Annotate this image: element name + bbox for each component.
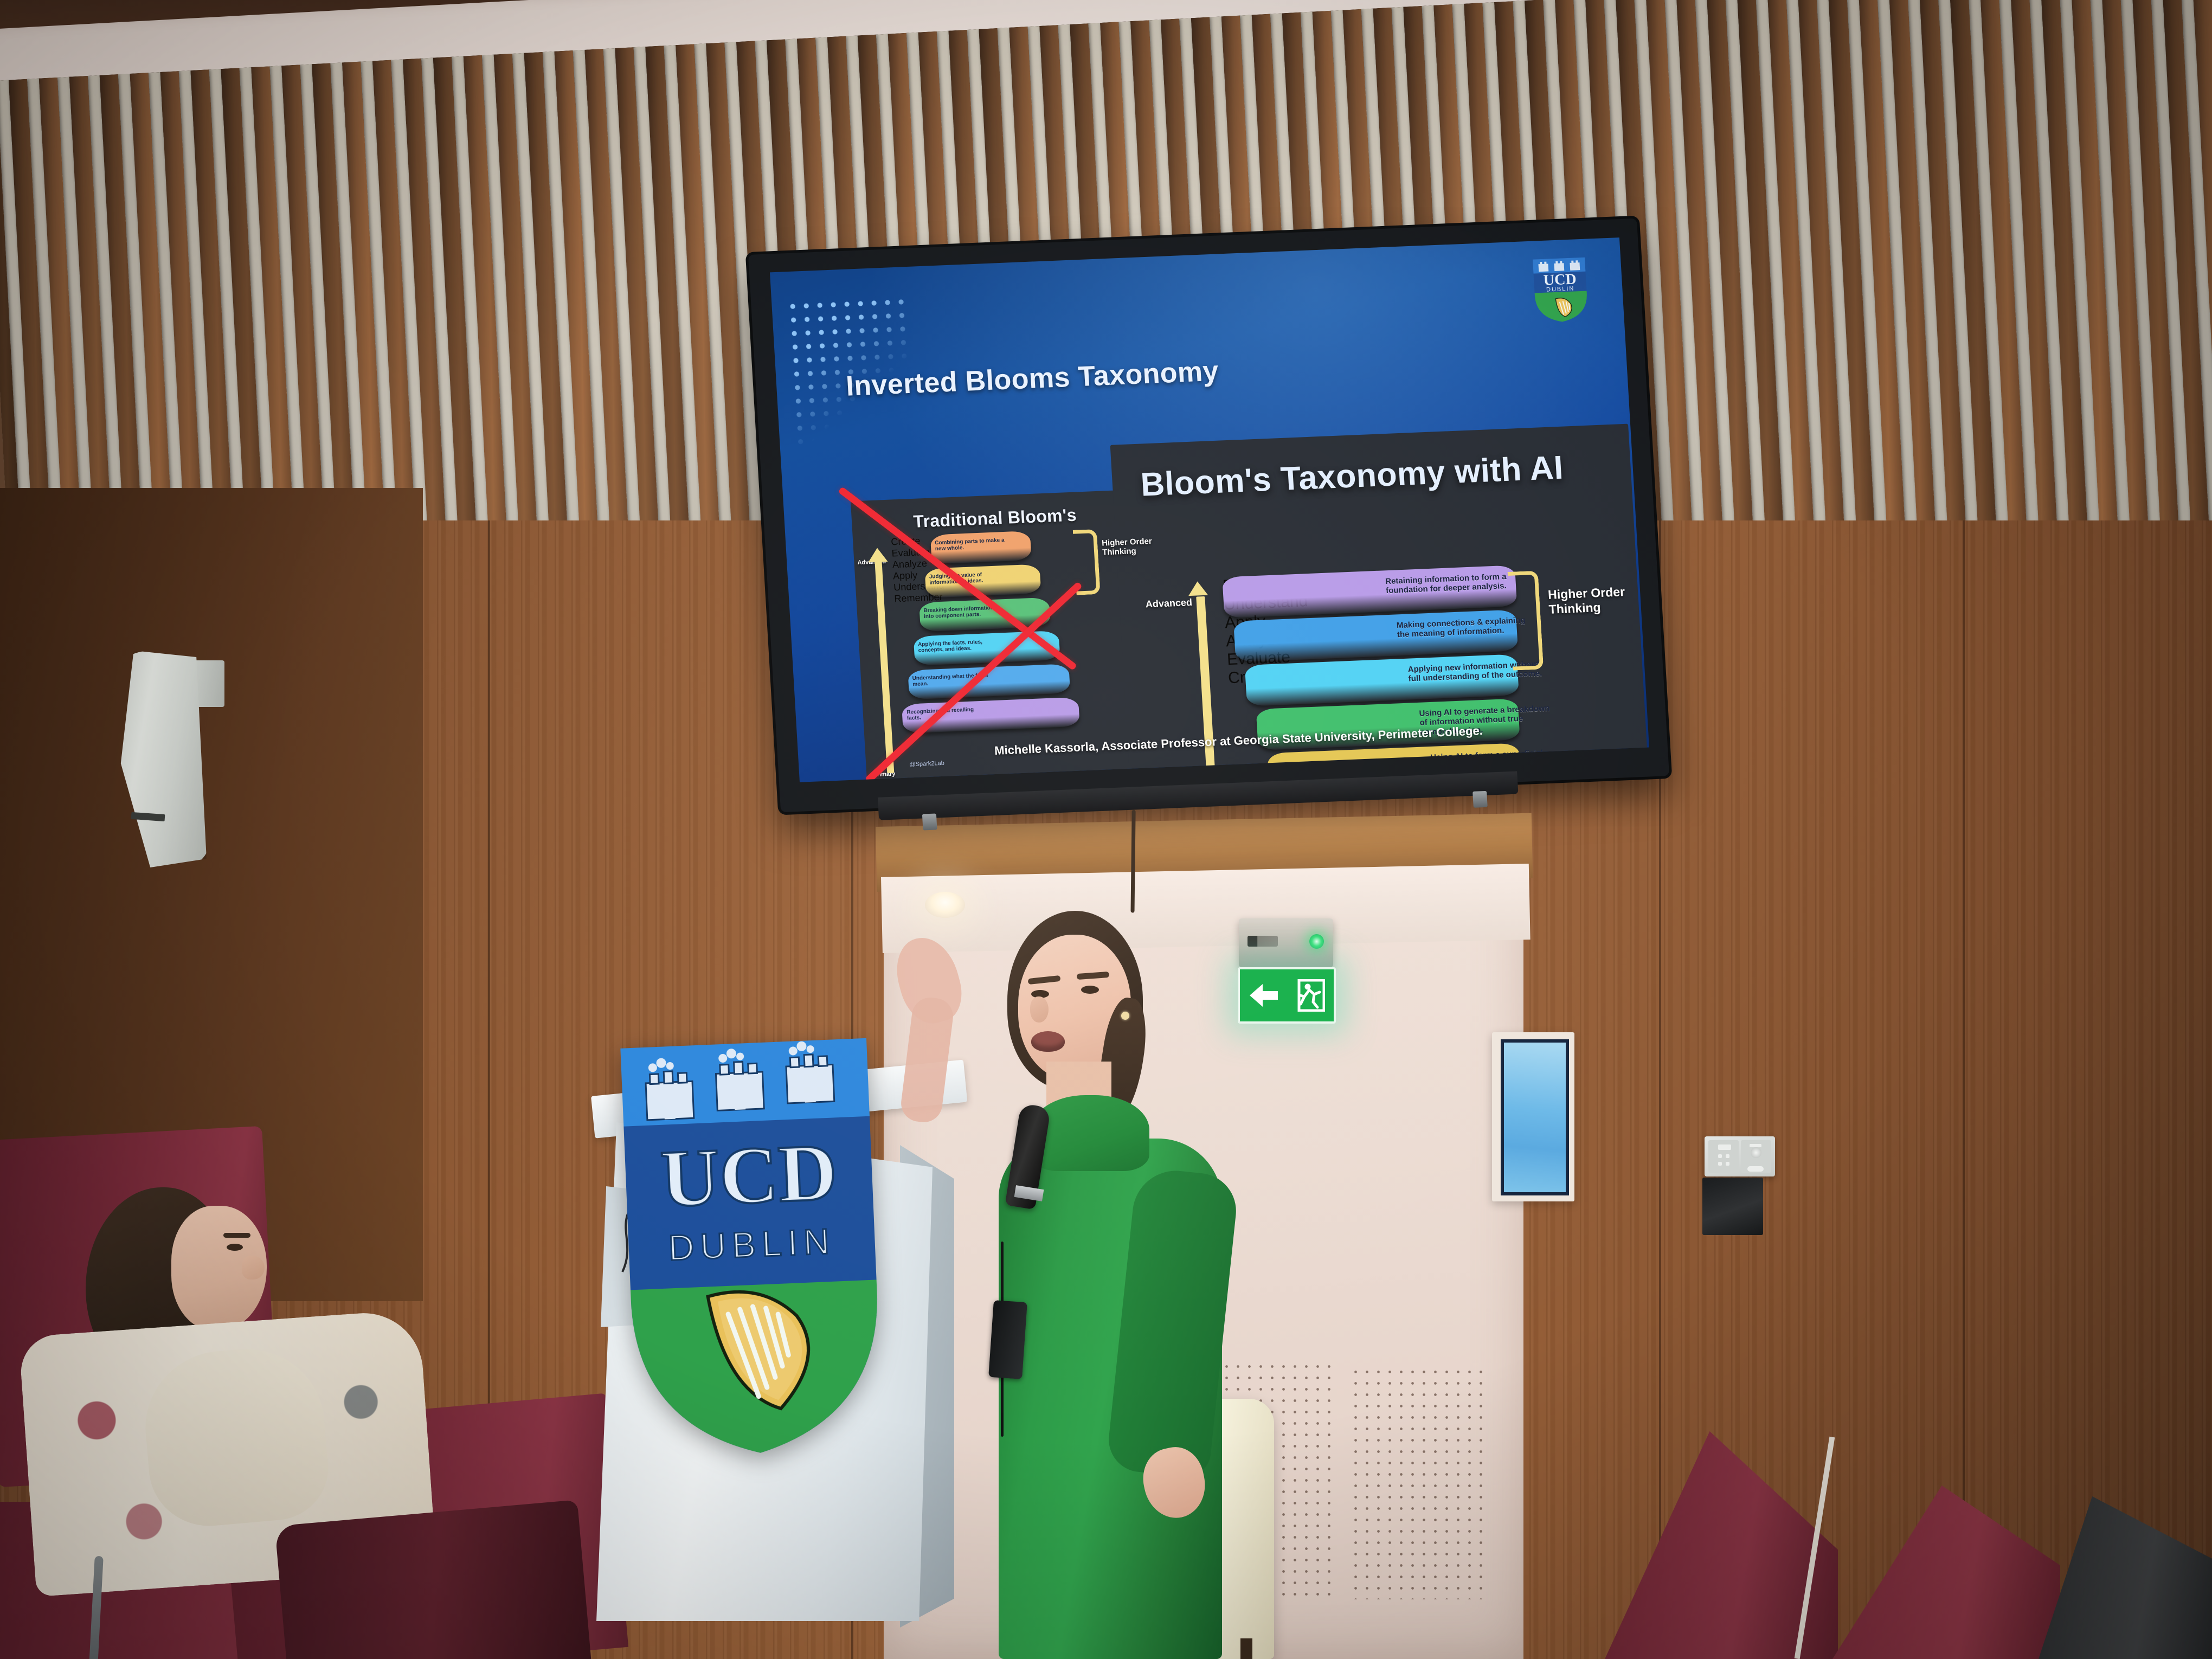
display-mount-foot <box>1472 791 1488 808</box>
speaker-enclosure <box>117 651 209 867</box>
person-nose <box>242 1256 265 1279</box>
ai-hot-bracket <box>1508 571 1544 671</box>
wall-panel-seam <box>1963 520 1965 1659</box>
exit-sign-housing <box>1239 918 1333 967</box>
seated-audience-member <box>65 1187 510 1659</box>
slide-content: Traditional Bloom's Advanced Primary Cre… <box>833 401 1614 723</box>
presenter-mouth <box>1031 1031 1065 1052</box>
ai-hot-label: Higher Order Thinking <box>1547 584 1628 616</box>
slide-title: Inverted Blooms Taxonomy <box>845 350 1335 403</box>
exit-running-person-icon <box>1296 979 1325 1012</box>
exit-sign-test-switch[interactable] <box>1248 936 1278 947</box>
wall-cable-tray <box>1702 1178 1763 1235</box>
crest-text-ucd: UCD <box>659 1127 839 1224</box>
ucd-crest-icon: UCD DUBLIN <box>616 1034 888 1462</box>
crest-text-dublin: DUBLIN <box>667 1221 836 1268</box>
acoustic-perforation-patch <box>1350 1366 1486 1599</box>
person-eye <box>227 1244 243 1251</box>
traditional-hot-label: Higher Order Thinking <box>1102 536 1162 557</box>
keypad-module[interactable] <box>1708 1140 1739 1173</box>
ucd-logo-subtext: DUBLIN <box>1546 286 1575 293</box>
ucd-logo-icon: UCD DUBLIN <box>1531 255 1591 325</box>
traditional-axis-arrowhead <box>867 548 888 562</box>
bose-wall-speaker <box>117 651 209 867</box>
presenter-earring <box>1121 1012 1129 1020</box>
person-skirt <box>275 1500 593 1659</box>
lecture-theatre-photo: {} <box>0 0 2212 1659</box>
wireless-beltpack-transmitter[interactable] <box>988 1300 1027 1379</box>
presenter-nose <box>1030 996 1049 1023</box>
recessed-downlight <box>925 892 965 918</box>
presenter-eye <box>1081 986 1099 994</box>
armchair-leg <box>1240 1638 1252 1659</box>
ai-axis-arrowhead <box>1188 581 1208 596</box>
emergency-exit-sign <box>1238 967 1336 1024</box>
wall-mounted-display: Inverted Blooms Taxonomy UCD DUBLIN <box>748 218 1669 812</box>
display-mount-foot <box>922 813 937 830</box>
presenter <box>949 916 1231 1659</box>
ai-axis-top-label: Advanced <box>1145 597 1192 610</box>
dimmer-knob[interactable] <box>1751 1147 1761 1158</box>
presenter-turtleneck-collar <box>1031 1095 1149 1171</box>
artwork-image <box>1504 1043 1566 1192</box>
slide-screen: Inverted Blooms Taxonomy UCD DUBLIN <box>770 237 1649 782</box>
exit-sign-status-led <box>1309 934 1324 949</box>
framed-artwork <box>1492 1032 1574 1201</box>
artwork-frame <box>1501 1039 1569 1195</box>
dimmer-module[interactable] <box>1741 1140 1771 1173</box>
wall-control-panel[interactable] <box>1705 1136 1775 1176</box>
exit-arrow-left-icon <box>1249 982 1279 1009</box>
person-eyebrow <box>223 1233 250 1238</box>
